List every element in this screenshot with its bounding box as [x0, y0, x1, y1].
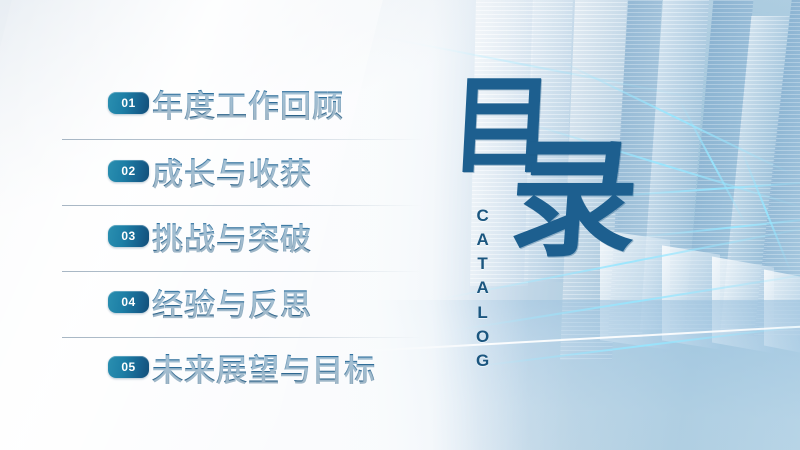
- catalog-letter-l: L: [477, 301, 487, 325]
- toc-number-badge-4: 04: [108, 291, 149, 313]
- toc-number-2: 02: [121, 165, 135, 177]
- toc-item-2[interactable]: 02 成长与收获: [0, 138, 440, 204]
- toc-number-badge-3: 03: [108, 225, 149, 247]
- catalog-letter-t: T: [477, 252, 487, 276]
- toc-label-1: 年度工作回顾: [152, 81, 344, 126]
- toc-number-badge-5: 05: [108, 356, 149, 378]
- toc-number-3: 03: [121, 230, 135, 242]
- catalog-letter-o: O: [476, 325, 489, 349]
- toc-label-4: 经验与反思: [152, 280, 312, 325]
- toc-number-badge-2: 02: [108, 160, 149, 182]
- toc-item-3[interactable]: 03 挑战与突破: [0, 203, 440, 269]
- catalog-letter-a1: A: [476, 228, 488, 252]
- toc-label-3: 挑战与突破: [152, 214, 312, 259]
- toc-label-5: 未来展望与目标: [152, 345, 376, 390]
- toc-number-4: 04: [121, 296, 135, 308]
- slide-root: 目 录 C A T A L O G 01 年度工作回顾 02 成长与收获 03: [0, 0, 800, 450]
- catalog-letter-a2: A: [476, 276, 488, 300]
- catalog-letter-g: G: [476, 349, 489, 373]
- toc-item-1[interactable]: 01 年度工作回顾: [0, 70, 440, 136]
- title-char-lu: 录: [506, 136, 643, 264]
- catalog-title-english-vertical: C A T A L O G: [476, 204, 489, 373]
- toc-number-5: 05: [121, 361, 135, 373]
- catalog-letter-c: C: [476, 204, 488, 228]
- toc-item-5[interactable]: 05 未来展望与目标: [0, 334, 440, 400]
- toc-number-1: 01: [121, 97, 135, 109]
- toc-label-2: 成长与收获: [152, 149, 312, 194]
- toc-item-4[interactable]: 04 经验与反思: [0, 269, 440, 335]
- toc-number-badge-1: 01: [108, 92, 149, 114]
- toc-menu-list: 01 年度工作回顾 02 成长与收获 03 挑战与突破 04 经验与反思: [0, 0, 440, 450]
